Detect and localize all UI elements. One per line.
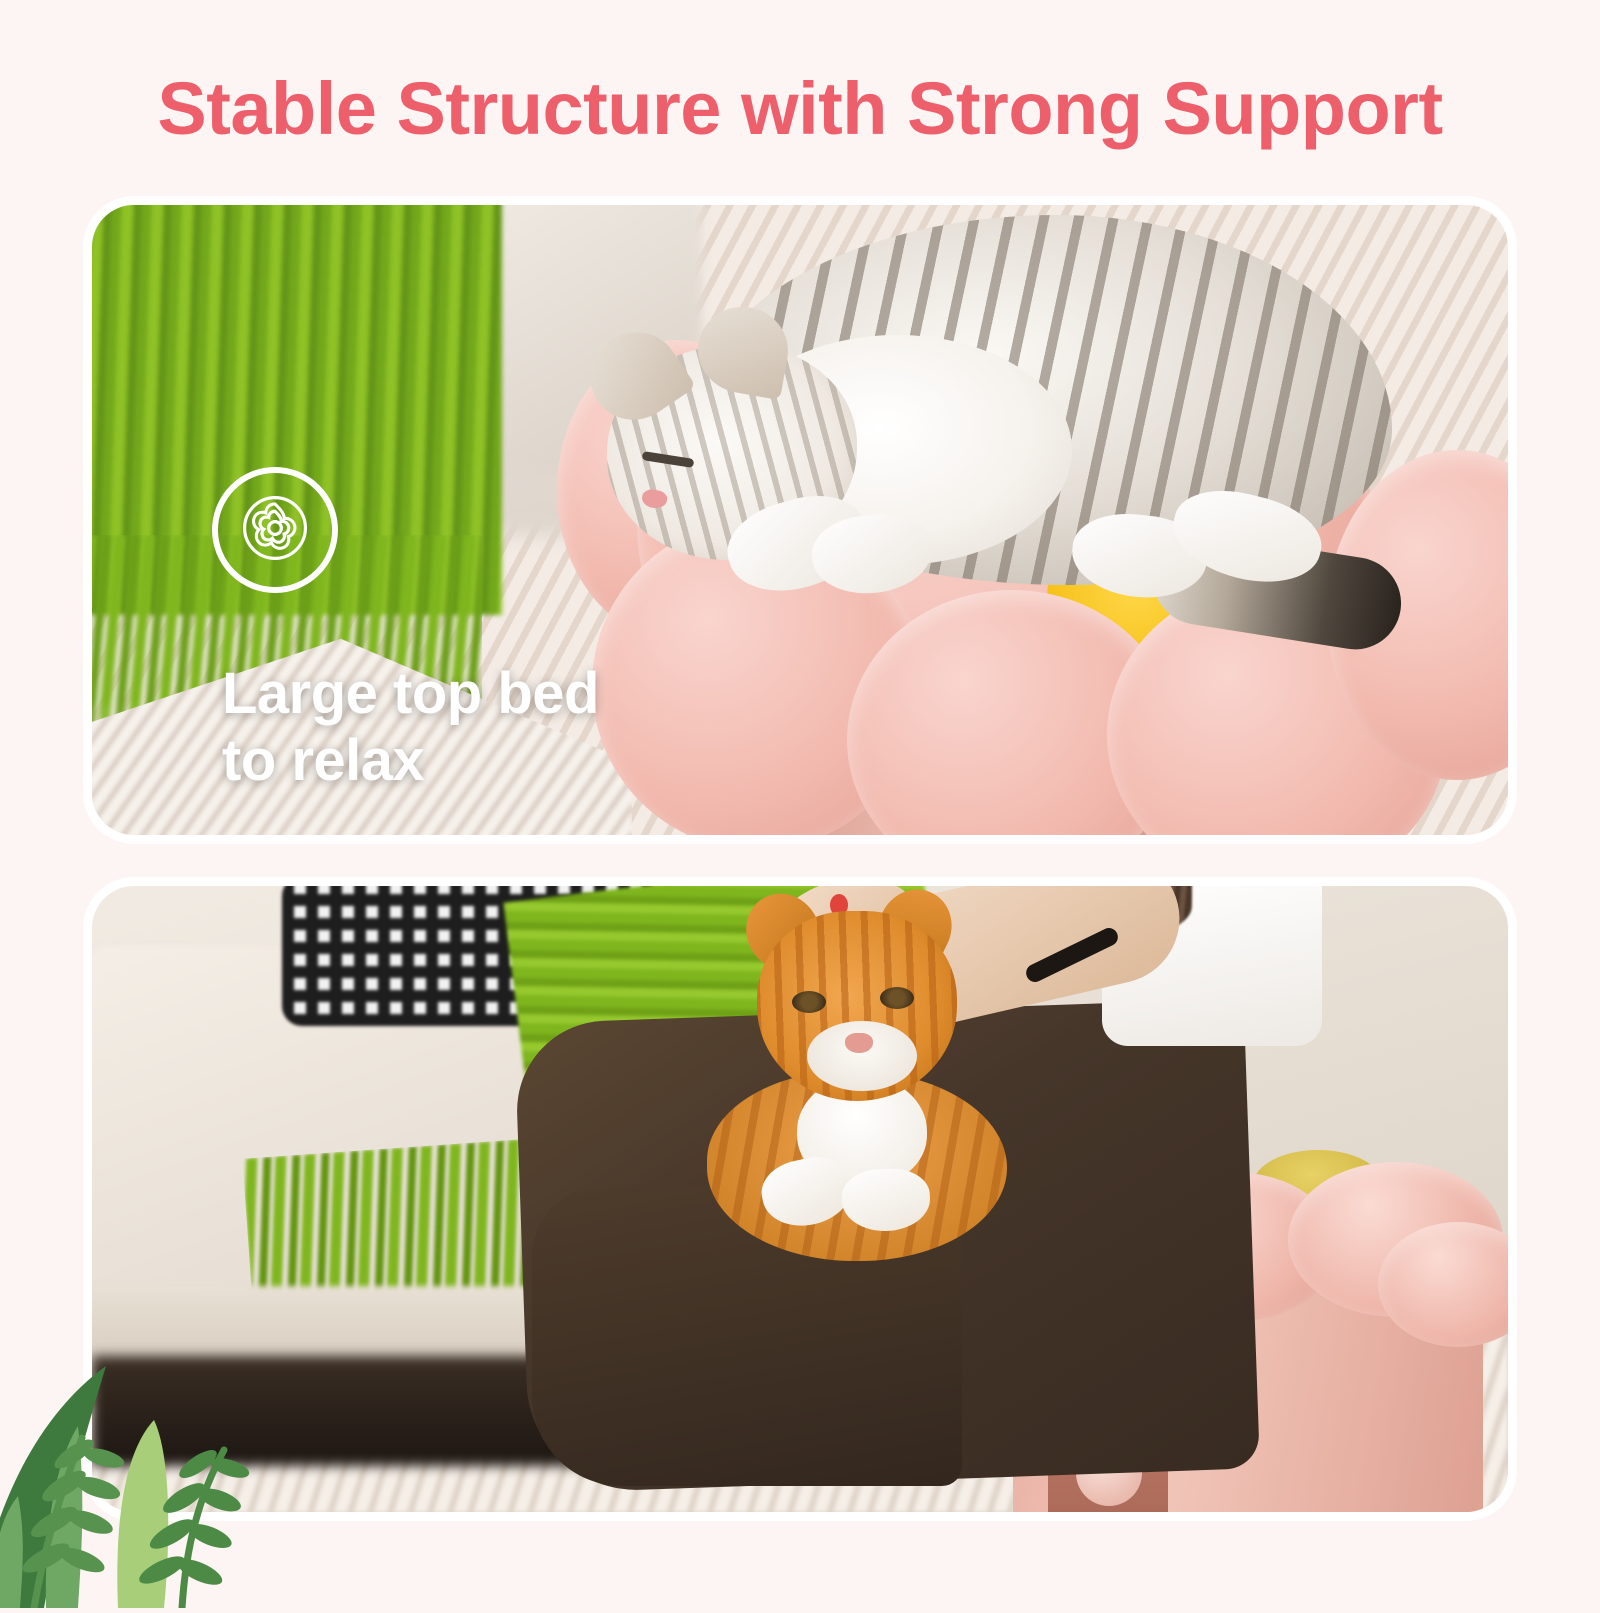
feature-panel-top: Large top bed to relax (92, 205, 1508, 835)
flower-icon (237, 490, 313, 571)
feature-caption-top: Large top bed to relax (222, 660, 599, 795)
cat-eye (792, 991, 826, 1013)
page-title: Stable Structure with Strong Support (0, 72, 1600, 146)
silver-tabby-cat (512, 215, 1508, 735)
flower-icon-badge (212, 467, 338, 593)
cat-eye (880, 987, 914, 1009)
feature-panel-bottom: Can be a cute chair at home (92, 886, 1508, 1512)
cat-snout (807, 1021, 917, 1091)
orange-tabby-cat (667, 911, 1067, 1261)
cat-nose (845, 1033, 873, 1053)
product-photo-chair-use (92, 886, 1508, 1512)
